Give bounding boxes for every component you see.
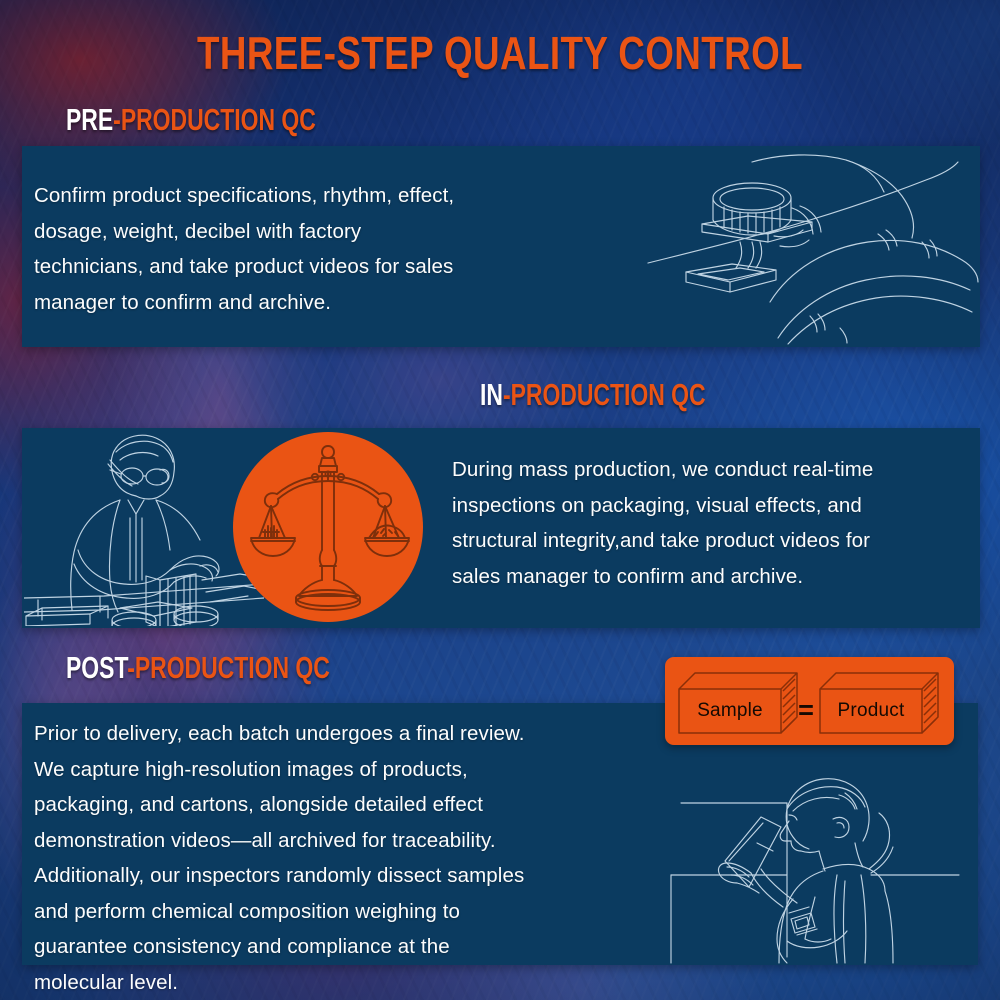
product-box-label: Product (820, 689, 922, 733)
step-heading-suffix: -PRODUCTION QC (127, 650, 330, 685)
panel-body-in-production: During mass production, we conduct real-… (452, 452, 982, 594)
panel-body-pre-production: Confirm product specifications, rhythm, … (34, 178, 594, 320)
step-heading-prefix: IN (480, 377, 503, 412)
equals-sign: = (793, 695, 819, 725)
step-heading-prefix: PRE (66, 102, 113, 137)
page-title: THREE-STEP QUALITY CONTROL (100, 30, 900, 76)
sample-box-label: Sample (679, 689, 781, 733)
balance-scale-badge (233, 432, 423, 622)
panel-body-post-production: Prior to delivery, each batch undergoes … (34, 716, 659, 1000)
sample-equals-product-graphic: Sample = Product (665, 657, 954, 745)
step-heading-post-production: POST-PRODUCTION QC (66, 652, 330, 683)
step-heading-suffix: -PRODUCTION QC (503, 377, 706, 412)
step-heading-suffix: -PRODUCTION QC (113, 102, 316, 137)
step-heading-prefix: POST (66, 650, 127, 685)
step-heading-pre-production: PRE-PRODUCTION QC (66, 104, 316, 135)
step-heading-in-production: IN-PRODUCTION QC (480, 379, 706, 410)
